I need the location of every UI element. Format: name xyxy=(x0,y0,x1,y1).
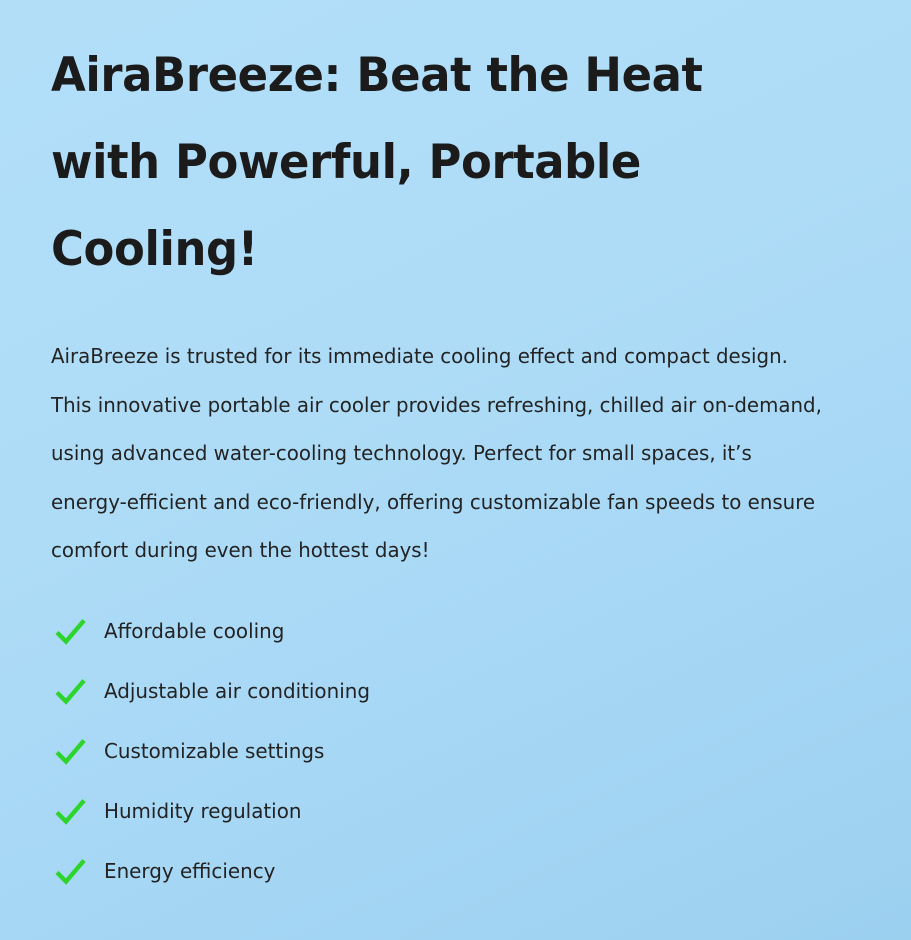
benefit-label: Energy efficiency xyxy=(104,861,275,882)
benefit-label: Adjustable air conditioning xyxy=(104,681,370,702)
list-item: Customizable settings xyxy=(51,722,860,782)
benefits-list: Affordable cooling Adjustable air condit… xyxy=(51,575,860,902)
benefit-label: Humidity regulation xyxy=(104,801,301,822)
list-item: Affordable cooling xyxy=(51,602,860,662)
benefit-label: Affordable cooling xyxy=(104,621,284,642)
list-item: Humidity regulation xyxy=(51,782,860,842)
check-icon xyxy=(51,738,104,765)
list-item: Energy efficiency xyxy=(51,842,860,902)
check-icon xyxy=(51,678,104,705)
list-item: Adjustable air conditioning xyxy=(51,662,860,722)
check-icon xyxy=(51,618,104,645)
product-hero-section: AiraBreeze: Beat the Heat with Powerful,… xyxy=(0,0,911,940)
benefit-label: Customizable settings xyxy=(104,741,324,762)
product-description: AiraBreeze is trusted for its immediate … xyxy=(51,293,832,575)
check-icon xyxy=(51,858,104,885)
page-title: AiraBreeze: Beat the Heat with Powerful,… xyxy=(51,0,777,293)
check-icon xyxy=(51,798,104,825)
